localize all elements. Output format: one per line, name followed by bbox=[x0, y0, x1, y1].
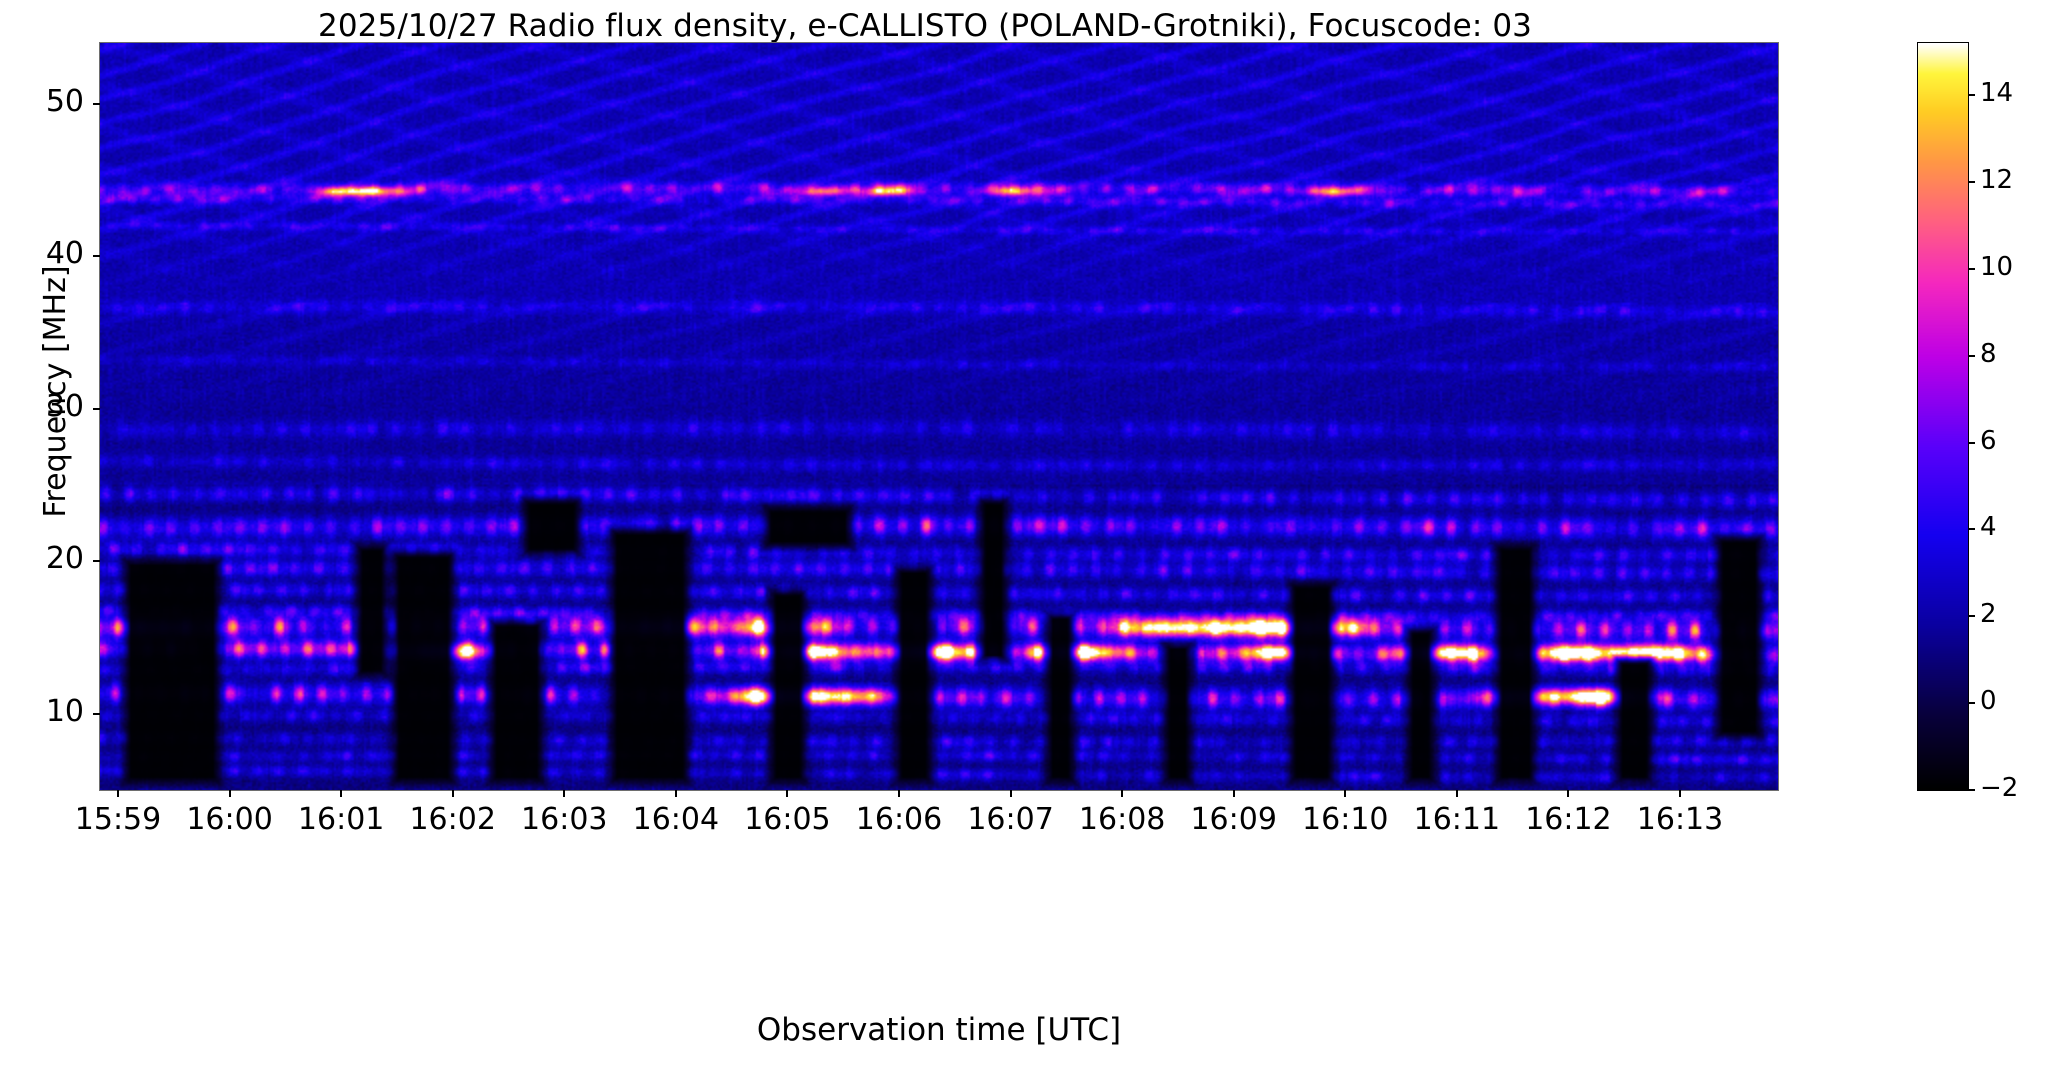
x-tick-mark bbox=[229, 790, 231, 797]
colorbar-tick-label: 8 bbox=[1980, 341, 1997, 367]
colorbar-canvas bbox=[1918, 43, 1968, 790]
colorbar-tick-mark bbox=[1968, 789, 1975, 791]
colorbar-tick-label: 0 bbox=[1980, 688, 1997, 714]
x-tick-mark bbox=[117, 790, 119, 797]
x-tick-mark bbox=[786, 790, 788, 797]
y-tick-mark bbox=[93, 408, 100, 410]
x-tick-mark bbox=[1344, 790, 1346, 797]
x-tick-mark bbox=[675, 790, 677, 797]
colorbar-tick-mark bbox=[1968, 181, 1975, 183]
colorbar-tick-mark bbox=[1968, 702, 1975, 704]
colorbar-tick-mark bbox=[1968, 528, 1975, 530]
colorbar-tick-label: −2 bbox=[1980, 775, 2018, 801]
y-tick-label: 10 bbox=[0, 697, 84, 727]
colorbar-tick-mark bbox=[1968, 94, 1975, 96]
y-tick-label: 50 bbox=[0, 87, 84, 117]
colorbar-tick-mark bbox=[1968, 442, 1975, 444]
colorbar-tick-label: 12 bbox=[1980, 167, 2013, 193]
spectrogram-canvas bbox=[100, 43, 1778, 790]
page-title: 2025/10/27 Radio flux density, e-CALLIST… bbox=[0, 8, 1850, 44]
x-tick-mark bbox=[563, 790, 565, 797]
colorbar-tick-label: 4 bbox=[1980, 514, 1997, 540]
y-tick-label: 30 bbox=[0, 392, 84, 422]
x-tick-mark bbox=[898, 790, 900, 797]
y-tick-mark bbox=[93, 103, 100, 105]
colorbar-tick-label: 14 bbox=[1980, 80, 2013, 106]
colorbar-tick-mark bbox=[1968, 615, 1975, 617]
colorbar bbox=[1918, 43, 1968, 790]
x-tick-mark bbox=[1456, 790, 1458, 797]
x-tick-mark bbox=[1567, 790, 1569, 797]
x-tick-mark bbox=[1233, 790, 1235, 797]
y-tick-label: 20 bbox=[0, 544, 84, 574]
colorbar-tick-mark bbox=[1968, 355, 1975, 357]
colorbar-tick-label: 2 bbox=[1980, 601, 1997, 627]
y-tick-label: 40 bbox=[0, 239, 84, 269]
colorbar-tick-mark bbox=[1968, 268, 1975, 270]
spectrogram-plot-area bbox=[100, 43, 1778, 790]
y-tick-mark bbox=[93, 713, 100, 715]
colorbar-tick-label: 10 bbox=[1980, 254, 2013, 280]
x-tick-mark bbox=[340, 790, 342, 797]
x-tick-label: 16:13 bbox=[1610, 802, 1750, 837]
x-tick-mark bbox=[1679, 790, 1681, 797]
x-tick-mark bbox=[452, 790, 454, 797]
y-tick-mark bbox=[93, 560, 100, 562]
y-tick-mark bbox=[93, 255, 100, 257]
x-tick-mark bbox=[1121, 790, 1123, 797]
x-tick-mark bbox=[1010, 790, 1012, 797]
spectrogram-figure: 2025/10/27 Radio flux density, e-CALLIST… bbox=[0, 0, 2047, 1067]
x-axis-label: Observation time [UTC] bbox=[100, 1012, 1778, 1048]
colorbar-tick-label: 6 bbox=[1980, 428, 1997, 454]
